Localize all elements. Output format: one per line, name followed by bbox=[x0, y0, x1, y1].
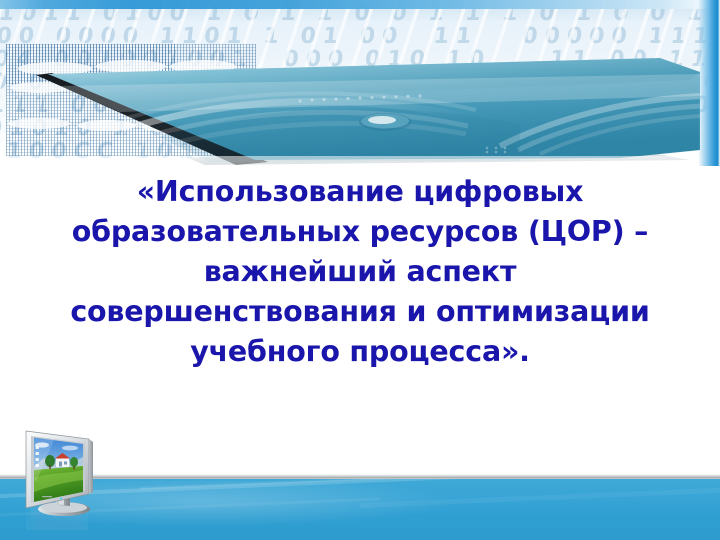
header-banner: 1011 0100 1 0 1 1 0 0 1 1 1 0 1 0 0 1 0 … bbox=[0, 0, 720, 166]
slide-canvas: 1011 0100 1 0 1 1 0 0 1 1 1 0 1 0 0 1 0 … bbox=[0, 0, 720, 540]
slide-title: «Использование цифровых образовательных … bbox=[40, 172, 680, 372]
laptop-illustration bbox=[0, 0, 720, 166]
banner-top-accent-edge bbox=[0, 0, 720, 9]
title-line-2: образовательных ресурсов (ЦОР) – bbox=[40, 212, 680, 252]
banner-right-accent-edge bbox=[698, 0, 720, 166]
lcd-monitor-icon bbox=[12, 420, 122, 530]
monitor-illustration bbox=[12, 420, 122, 530]
title-line-5: учебного процесса». bbox=[40, 332, 680, 372]
laptop-logo-badge bbox=[359, 113, 411, 131]
title-line-3: важнейший аспект bbox=[40, 252, 680, 292]
title-line-4: совершенствования и оптимизации bbox=[40, 292, 680, 332]
title-line-1: «Использование цифровых bbox=[40, 172, 680, 212]
